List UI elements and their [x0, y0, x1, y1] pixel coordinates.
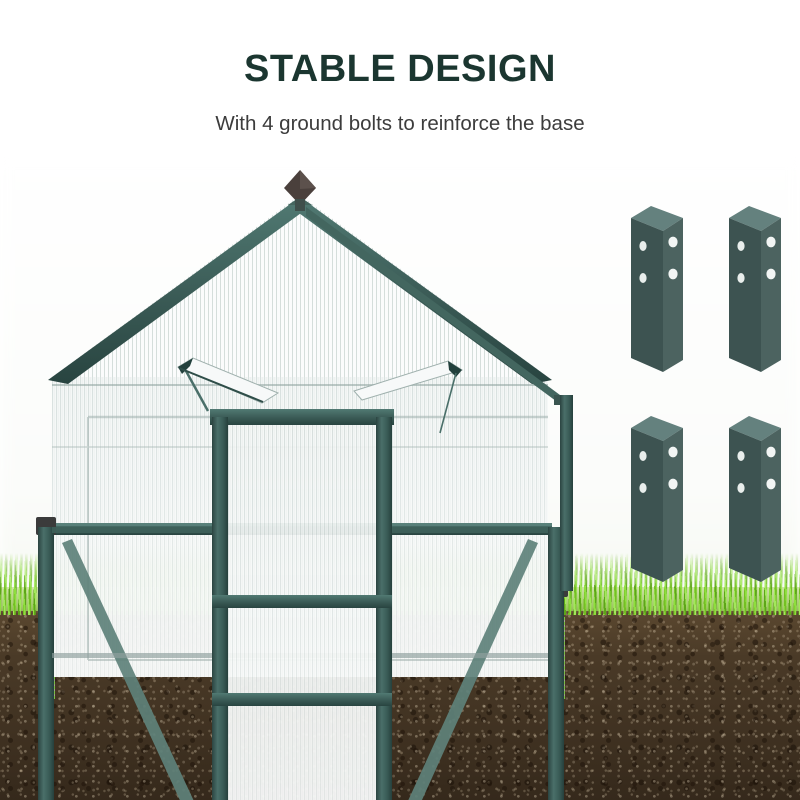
product-feature-image: STABLE DESIGN With 4 ground bolts to rei… — [0, 0, 800, 800]
door-crossbar-lower — [212, 693, 392, 706]
page-title: STABLE DESIGN — [0, 48, 800, 91]
gable-panel — [52, 195, 548, 377]
ground-bolt-1 — [625, 200, 689, 380]
door-crossbar-upper — [212, 595, 392, 608]
rear-post-right — [560, 395, 573, 591]
ground-bolt-3 — [625, 410, 689, 590]
page-subtitle: With 4 ground bolts to reinforce the bas… — [0, 112, 800, 136]
ground-bolt-4 — [723, 410, 787, 590]
ground-bolt-2 — [723, 200, 787, 380]
door-frame[interactable] — [208, 409, 396, 800]
corner-post-left — [38, 527, 54, 800]
scene-illustration — [0, 155, 800, 800]
